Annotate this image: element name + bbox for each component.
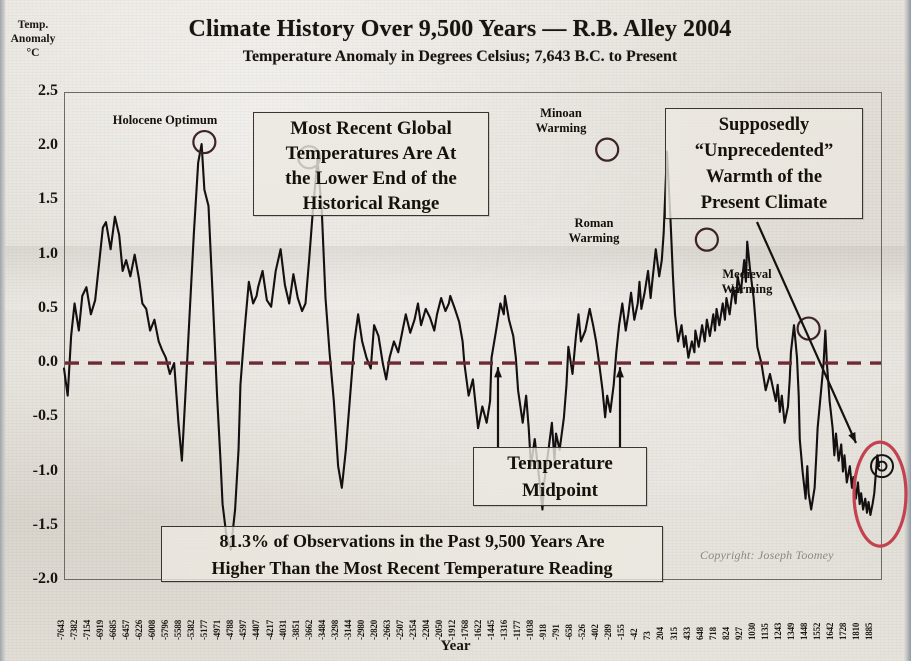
callout-arrow-head [848, 432, 856, 443]
callout-arrow-line [757, 222, 856, 443]
x-tick-label: -2820 [369, 620, 379, 640]
x-tick-label: -6457 [121, 620, 131, 640]
callout-percent-line1: 81.3% of Observations in the Past 9,500 … [162, 528, 662, 555]
copyright-notice: Copyright: Joseph Toomey [700, 548, 870, 563]
x-tick-label: -4597 [238, 620, 248, 640]
label-roman-line1: Roman [548, 216, 640, 231]
x-tick-label: -4031 [278, 620, 288, 640]
callout-arrow-head [616, 367, 624, 377]
callout-lower-end-line1: Most Recent Global [254, 116, 488, 141]
label-roman-warming: Roman Warming [548, 216, 640, 246]
x-axis-caption: Year [0, 638, 911, 655]
callout-lower-end-line4: Historical Range [254, 191, 488, 216]
x-tick-label: -1912 [447, 620, 457, 640]
x-tick-label: -2204 [421, 620, 431, 640]
x-tick-label: -2980 [356, 620, 366, 640]
label-medieval-line1: Medieval [700, 267, 794, 282]
callout-percent-line2: Higher Than the Most Recent Temperature … [162, 555, 662, 582]
label-holocene-optimum: Holocene Optimum [90, 113, 240, 128]
callout-midpoint-line2: Midpoint [474, 477, 646, 504]
callout-lower-end-line2: Temperatures Are At [254, 141, 488, 166]
x-tick-label: -1316 [499, 620, 509, 640]
x-tick-label: -3484 [317, 620, 327, 640]
x-tick-label: -1038 [525, 620, 535, 640]
x-tick-label: -3662 [304, 620, 314, 640]
label-minoan-line1: Minoan [512, 106, 610, 121]
x-tick-label: -4971 [212, 620, 222, 640]
x-tick-label: -6226 [134, 620, 144, 640]
x-tick-label: -7154 [82, 620, 92, 640]
x-tick-label: -6008 [147, 620, 157, 640]
callout-arrow-head [494, 367, 502, 377]
callout-unprecedented: Supposedly “Unprecedented” Warmth of the… [665, 108, 863, 219]
x-tick-label: -7643 [56, 620, 66, 640]
x-tick-label: -5796 [160, 620, 170, 640]
label-medieval-warming: Medieval Warming [700, 267, 794, 297]
x-tick-label: -1768 [460, 620, 470, 640]
callout-unprecedented-line3: Warmth of the [666, 164, 862, 190]
label-minoan-line2: Warming [512, 121, 610, 136]
callout-percent-observations: 81.3% of Observations in the Past 9,500 … [161, 526, 663, 582]
label-medieval-line2: Warming [700, 282, 794, 297]
callout-temperature-midpoint: Temperature Midpoint [473, 447, 647, 506]
x-tick-label: -5382 [186, 620, 196, 640]
callout-unprecedented-line4: Present Climate [666, 190, 862, 216]
x-tick-label: -4217 [265, 620, 275, 640]
peak-marker [596, 139, 618, 161]
peak-marker [193, 131, 215, 153]
x-tick-label: -3144 [343, 620, 353, 640]
x-tick-label: -1445 [486, 620, 496, 640]
x-tick-label: -5177 [199, 620, 209, 640]
callout-arrows [494, 222, 856, 447]
x-tick-label: -6919 [95, 620, 105, 640]
x-tick-label: -3851 [291, 620, 301, 640]
x-tick-label: -2354 [408, 620, 418, 640]
x-tick-label: -2507 [395, 620, 405, 640]
x-tick-label: -3298 [330, 620, 340, 640]
x-tick-label: -4788 [225, 620, 235, 640]
label-roman-line2: Warming [548, 231, 640, 246]
callout-lower-end-line3: the Lower End of the [254, 166, 488, 191]
peak-marker [696, 229, 718, 251]
x-tick-label: -6685 [108, 620, 118, 640]
x-tick-label: -1622 [473, 620, 483, 640]
label-minoan-warming: Minoan Warming [512, 106, 610, 136]
callout-unprecedented-line2: “Unprecedented” [666, 138, 862, 164]
callout-lower-end: Most Recent Global Temperatures Are At t… [253, 112, 489, 216]
callout-unprecedented-line1: Supposedly [666, 112, 862, 138]
x-tick-label: -2663 [382, 620, 392, 640]
callout-midpoint-line1: Temperature [474, 450, 646, 477]
x-axis-tick-labels: -7643-7382-7154-6919-6685-6457-6226-6008… [64, 584, 882, 640]
x-tick-label: -4407 [251, 620, 261, 640]
x-tick-label: -2050 [434, 620, 444, 640]
present-climate-marker [871, 455, 893, 477]
x-tick-label: -5588 [173, 620, 183, 640]
x-tick-label: -7382 [69, 620, 79, 640]
